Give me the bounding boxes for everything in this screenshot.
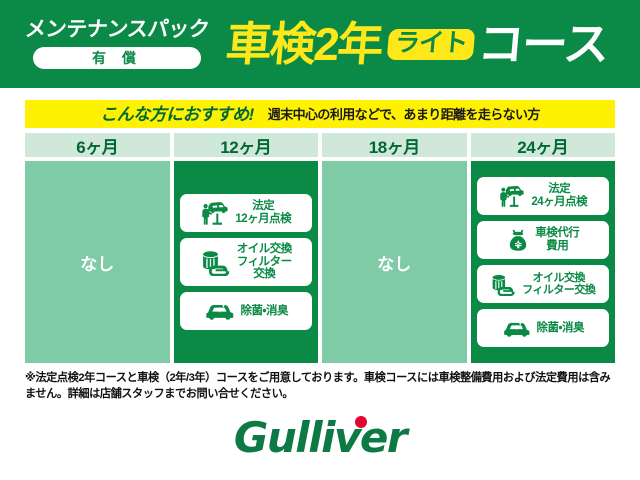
car-sanitize-icon: [502, 319, 532, 338]
logo-text: Gulliver: [234, 413, 406, 462]
maintenance-pack-title: メンテナンスパック: [24, 19, 210, 40]
column-body-24months: 法定 24ヶ月点検 車検代行 費用: [471, 161, 616, 363]
footnote-text: ※法定点検2年コースと車検（2年/3年）コースをご用意しております。車検コースに…: [25, 370, 617, 402]
money-bag-yen-icon: [506, 228, 530, 252]
column-header-12months: 12ヶ月: [174, 133, 319, 157]
oil-filter-change-icon: [490, 272, 517, 296]
service-chip: オイル交換 フィルター 交換: [180, 238, 313, 287]
service-chip-label: 除菌・消臭: [537, 322, 584, 335]
none-label-18months: なし: [377, 250, 411, 275]
none-label-6months: なし: [80, 250, 114, 275]
service-chip: 法定 24ヶ月点検: [477, 177, 610, 215]
service-chip: 除菌・消臭: [477, 309, 610, 347]
oil-filter-change-icon: [200, 248, 232, 276]
column-header-24months: 24ヶ月: [471, 133, 616, 157]
recommend-sub: 週末中心の利用などで、あまり距離を走らない方: [268, 108, 540, 121]
car-lift-inspection-icon: [498, 184, 526, 208]
column-body-6months: なし: [25, 161, 170, 363]
maintenance-pack-banner: メンテナンスパック 有 償 車検2年 ライト コース こんな方におすすめ! 週末…: [0, 0, 640, 480]
column-header-18months: 18ヶ月: [322, 133, 467, 157]
column-body-12months: 法定 12ヶ月点検 オイル交換 フィ: [174, 161, 319, 363]
column-24months: 24ヶ月 法定 24ヶ月点検: [471, 133, 616, 363]
car-sanitize-icon: [204, 301, 236, 321]
column-12months: 12ヶ月 法定 12ヶ月点検: [174, 133, 319, 363]
column-header-6months: 6ヶ月: [25, 133, 170, 157]
service-chip-label: 除菌・消臭: [241, 305, 288, 318]
lite-course-badge: ライト: [386, 29, 475, 60]
service-chip-label: オイル交換 フィルター交換: [522, 272, 595, 297]
service-chip: オイル交換 フィルター交換: [477, 265, 610, 303]
service-chip-label: 法定 24ヶ月点検: [531, 183, 587, 209]
column-body-18months: なし: [322, 161, 467, 363]
service-chip: 除菌・消臭: [180, 292, 313, 330]
service-table: 6ヶ月 なし 12ヶ月: [25, 133, 615, 363]
logo-wrap: Gulliver: [234, 417, 406, 459]
logo-red-dot-icon: [355, 416, 367, 428]
paid-badge: 有 償: [33, 47, 201, 69]
recommend-lead: こんな方におすすめ!: [100, 106, 254, 123]
header-right-block: 車検2年 ライト コース: [226, 21, 640, 67]
service-chip: 法定 12ヶ月点検: [180, 194, 313, 232]
header-bar: メンテナンスパック 有 償 車検2年 ライト コース: [0, 0, 640, 88]
header-left-block: メンテナンスパック 有 償: [0, 19, 226, 69]
header-title-part2: コース: [476, 21, 610, 67]
car-lift-inspection-icon: [200, 200, 230, 226]
header-title-part1: 車検2年: [224, 21, 384, 67]
column-6months: 6ヶ月 なし: [25, 133, 170, 363]
service-chip-label: 車検代行 費用: [535, 227, 579, 253]
recommend-bar: こんな方におすすめ! 週末中心の利用などで、あまり距離を走らない方: [25, 100, 615, 128]
gulliver-logo: Gulliver: [0, 412, 640, 464]
service-chip: 車検代行 費用: [477, 221, 610, 259]
service-chip-label: オイル交換 フィルター 交換: [237, 243, 292, 282]
column-18months: 18ヶ月 なし: [322, 133, 467, 363]
service-chip-label: 法定 12ヶ月点検: [235, 200, 291, 226]
